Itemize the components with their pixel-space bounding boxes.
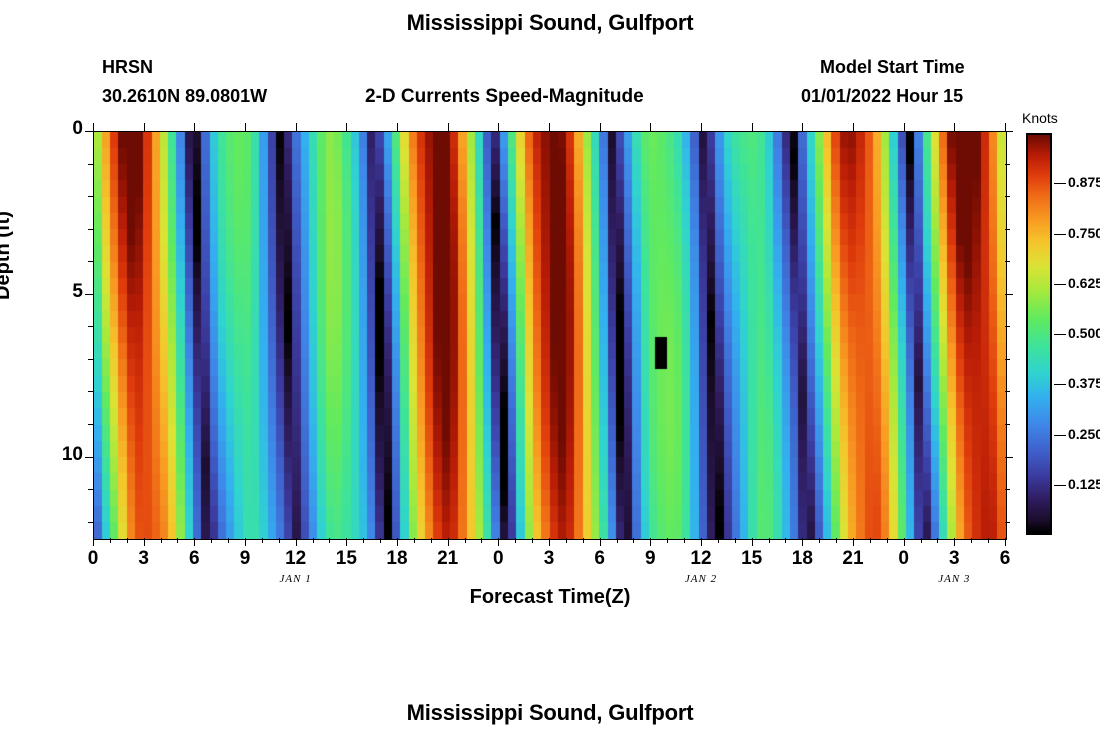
y-axis-tick-label: 0 [37,118,83,140]
y-axis-tick [85,294,93,295]
x-axis-tick-label: 15 [732,548,772,570]
x-axis-tick-label: 6 [985,548,1025,570]
x-axis-tick-label: 21 [428,548,468,570]
x-axis-tick-top [650,123,651,131]
x-axis-tick-label: 0 [884,548,924,570]
y-axis-tick-label: 10 [37,444,83,466]
x-axis-tick-top [1005,123,1006,131]
x-axis-tick-label: 6 [580,548,620,570]
x-axis-tick-label: 9 [630,548,670,570]
x-axis-tick-top [802,123,803,131]
colorbar-tick-label: 0.250 [1068,426,1100,442]
x-axis-tick-label: 12 [276,548,316,570]
y-axis-tick-label: 5 [37,281,83,303]
x-axis-tick-label: 12 [681,548,721,570]
colorbar [1026,133,1052,535]
x-axis-tick-top [245,123,246,131]
x-axis-tick-top [144,123,145,131]
x-axis-tick-label: 0 [478,548,518,570]
colorbar-tick-label: 0.625 [1068,275,1100,291]
colorbar-tick [1054,284,1066,285]
x-axis-tick-top [853,123,854,131]
x-axis-tick-label: 3 [529,548,569,570]
x-axis-day-label: JAN 3 [914,573,994,585]
x-axis-tick-label: 15 [326,548,366,570]
model-start-time-label: Model Start Time [820,57,965,78]
x-axis-tick-top [397,123,398,131]
x-axis-tick-top [954,123,955,131]
x-axis-tick-label: 21 [833,548,873,570]
colorbar-tick [1054,334,1066,335]
x-axis-tick-top [448,123,449,131]
x-axis-tick-top [93,123,94,131]
x-axis-title: Forecast Time(Z) [0,586,1100,609]
x-axis-tick-label: 3 [124,548,164,570]
y-axis-title: Depth (ft) [0,211,15,300]
colorbar-tick-label: 0.750 [1068,225,1100,241]
y-axis-tick [85,131,93,132]
bottom-title: Mississippi Sound, Gulfport [0,700,1100,726]
heatmap-plot-area [93,131,1007,540]
x-axis-tick-label: 18 [377,548,417,570]
heatmap-canvas [94,132,1006,539]
x-axis-day-label: JAN 2 [661,573,741,585]
x-axis-tick-top [904,123,905,131]
colorbar-tick-label: 0.375 [1068,375,1100,391]
colorbar-title: Knots [1022,110,1058,126]
x-axis-tick-top [346,123,347,131]
x-axis-tick-label: 9 [225,548,265,570]
colorbar-tick-label: 0.875 [1068,174,1100,190]
x-axis-tick-label: 6 [174,548,214,570]
x-axis-tick-label: 3 [934,548,974,570]
y-axis-tick [85,457,93,458]
x-axis-tick-top [194,123,195,131]
x-axis-tick-top [549,123,550,131]
colorbar-tick-label: 0.125 [1068,476,1100,492]
x-axis-tick-top [498,123,499,131]
page-title: Mississippi Sound, Gulfport [0,10,1100,36]
colorbar-tick [1054,485,1066,486]
x-axis-tick-top [296,123,297,131]
colorbar-canvas [1028,135,1050,533]
x-axis-tick-top [752,123,753,131]
x-axis-tick-top [600,123,601,131]
station-id: HRSN [102,57,153,78]
x-axis-tick-top [701,123,702,131]
colorbar-tick [1054,183,1066,184]
chart-subtitle: 2-D Currents Speed-Magnitude [365,86,644,108]
colorbar-tick [1054,384,1066,385]
x-axis-tick-label: 0 [73,548,113,570]
colorbar-tick [1054,234,1066,235]
x-axis-tick-label: 18 [782,548,822,570]
model-start-time-value: 01/01/2022 Hour 15 [801,86,963,107]
colorbar-tick [1054,435,1066,436]
colorbar-tick-label: 0.500 [1068,325,1100,341]
station-coordinates: 30.2610N 89.0801W [102,86,267,107]
x-axis-day-label: JAN 1 [256,573,336,585]
